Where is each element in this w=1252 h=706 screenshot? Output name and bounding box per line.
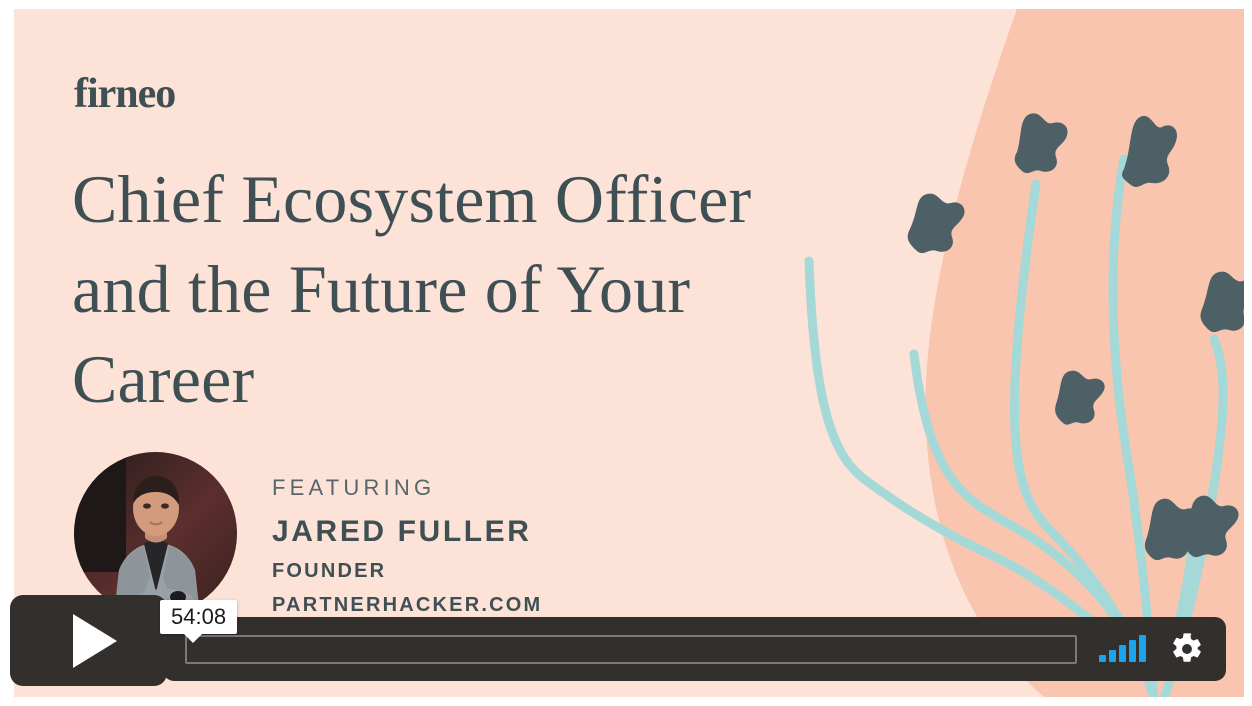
volume-bars-icon[interactable] [1099,636,1146,662]
video-player: firneo Chief Ecosystem Officer and the F… [0,0,1252,706]
time-tooltip: 54:08 [160,600,237,634]
volume-bar-3 [1119,645,1126,662]
firneo-logo: firneo [74,73,175,115]
volume-bar-5 [1139,635,1146,662]
volume-bar-4 [1129,640,1136,662]
featuring-label: FEATURING [272,477,542,499]
blob-shape [925,9,1244,697]
gear-icon[interactable] [1170,632,1204,666]
presenter-text: FEATURING JARED FULLER FOUNDER PARTNERHA… [272,452,542,615]
play-triangle-icon [73,614,117,668]
video-stage[interactable]: firneo Chief Ecosystem Officer and the F… [14,9,1244,697]
play-button[interactable] [10,595,167,686]
volume-bar-2 [1109,650,1116,662]
blob-shape-secondary [1013,49,1244,697]
presenter-role: FOUNDER [272,561,542,581]
plant-flowers [908,113,1244,560]
progress-bar[interactable] [185,635,1077,664]
slide-title: Chief Ecosystem Officer and the Future o… [72,154,862,424]
presenter-site: PARTNERHACKER.COM [272,595,542,615]
volume-bar-1 [1099,655,1106,662]
player-control-bar [163,617,1226,681]
presenter-block: FEATURING JARED FULLER FOUNDER PARTNERHA… [74,452,542,615]
avatar [74,452,237,615]
presenter-name: JARED FULLER [272,517,542,547]
